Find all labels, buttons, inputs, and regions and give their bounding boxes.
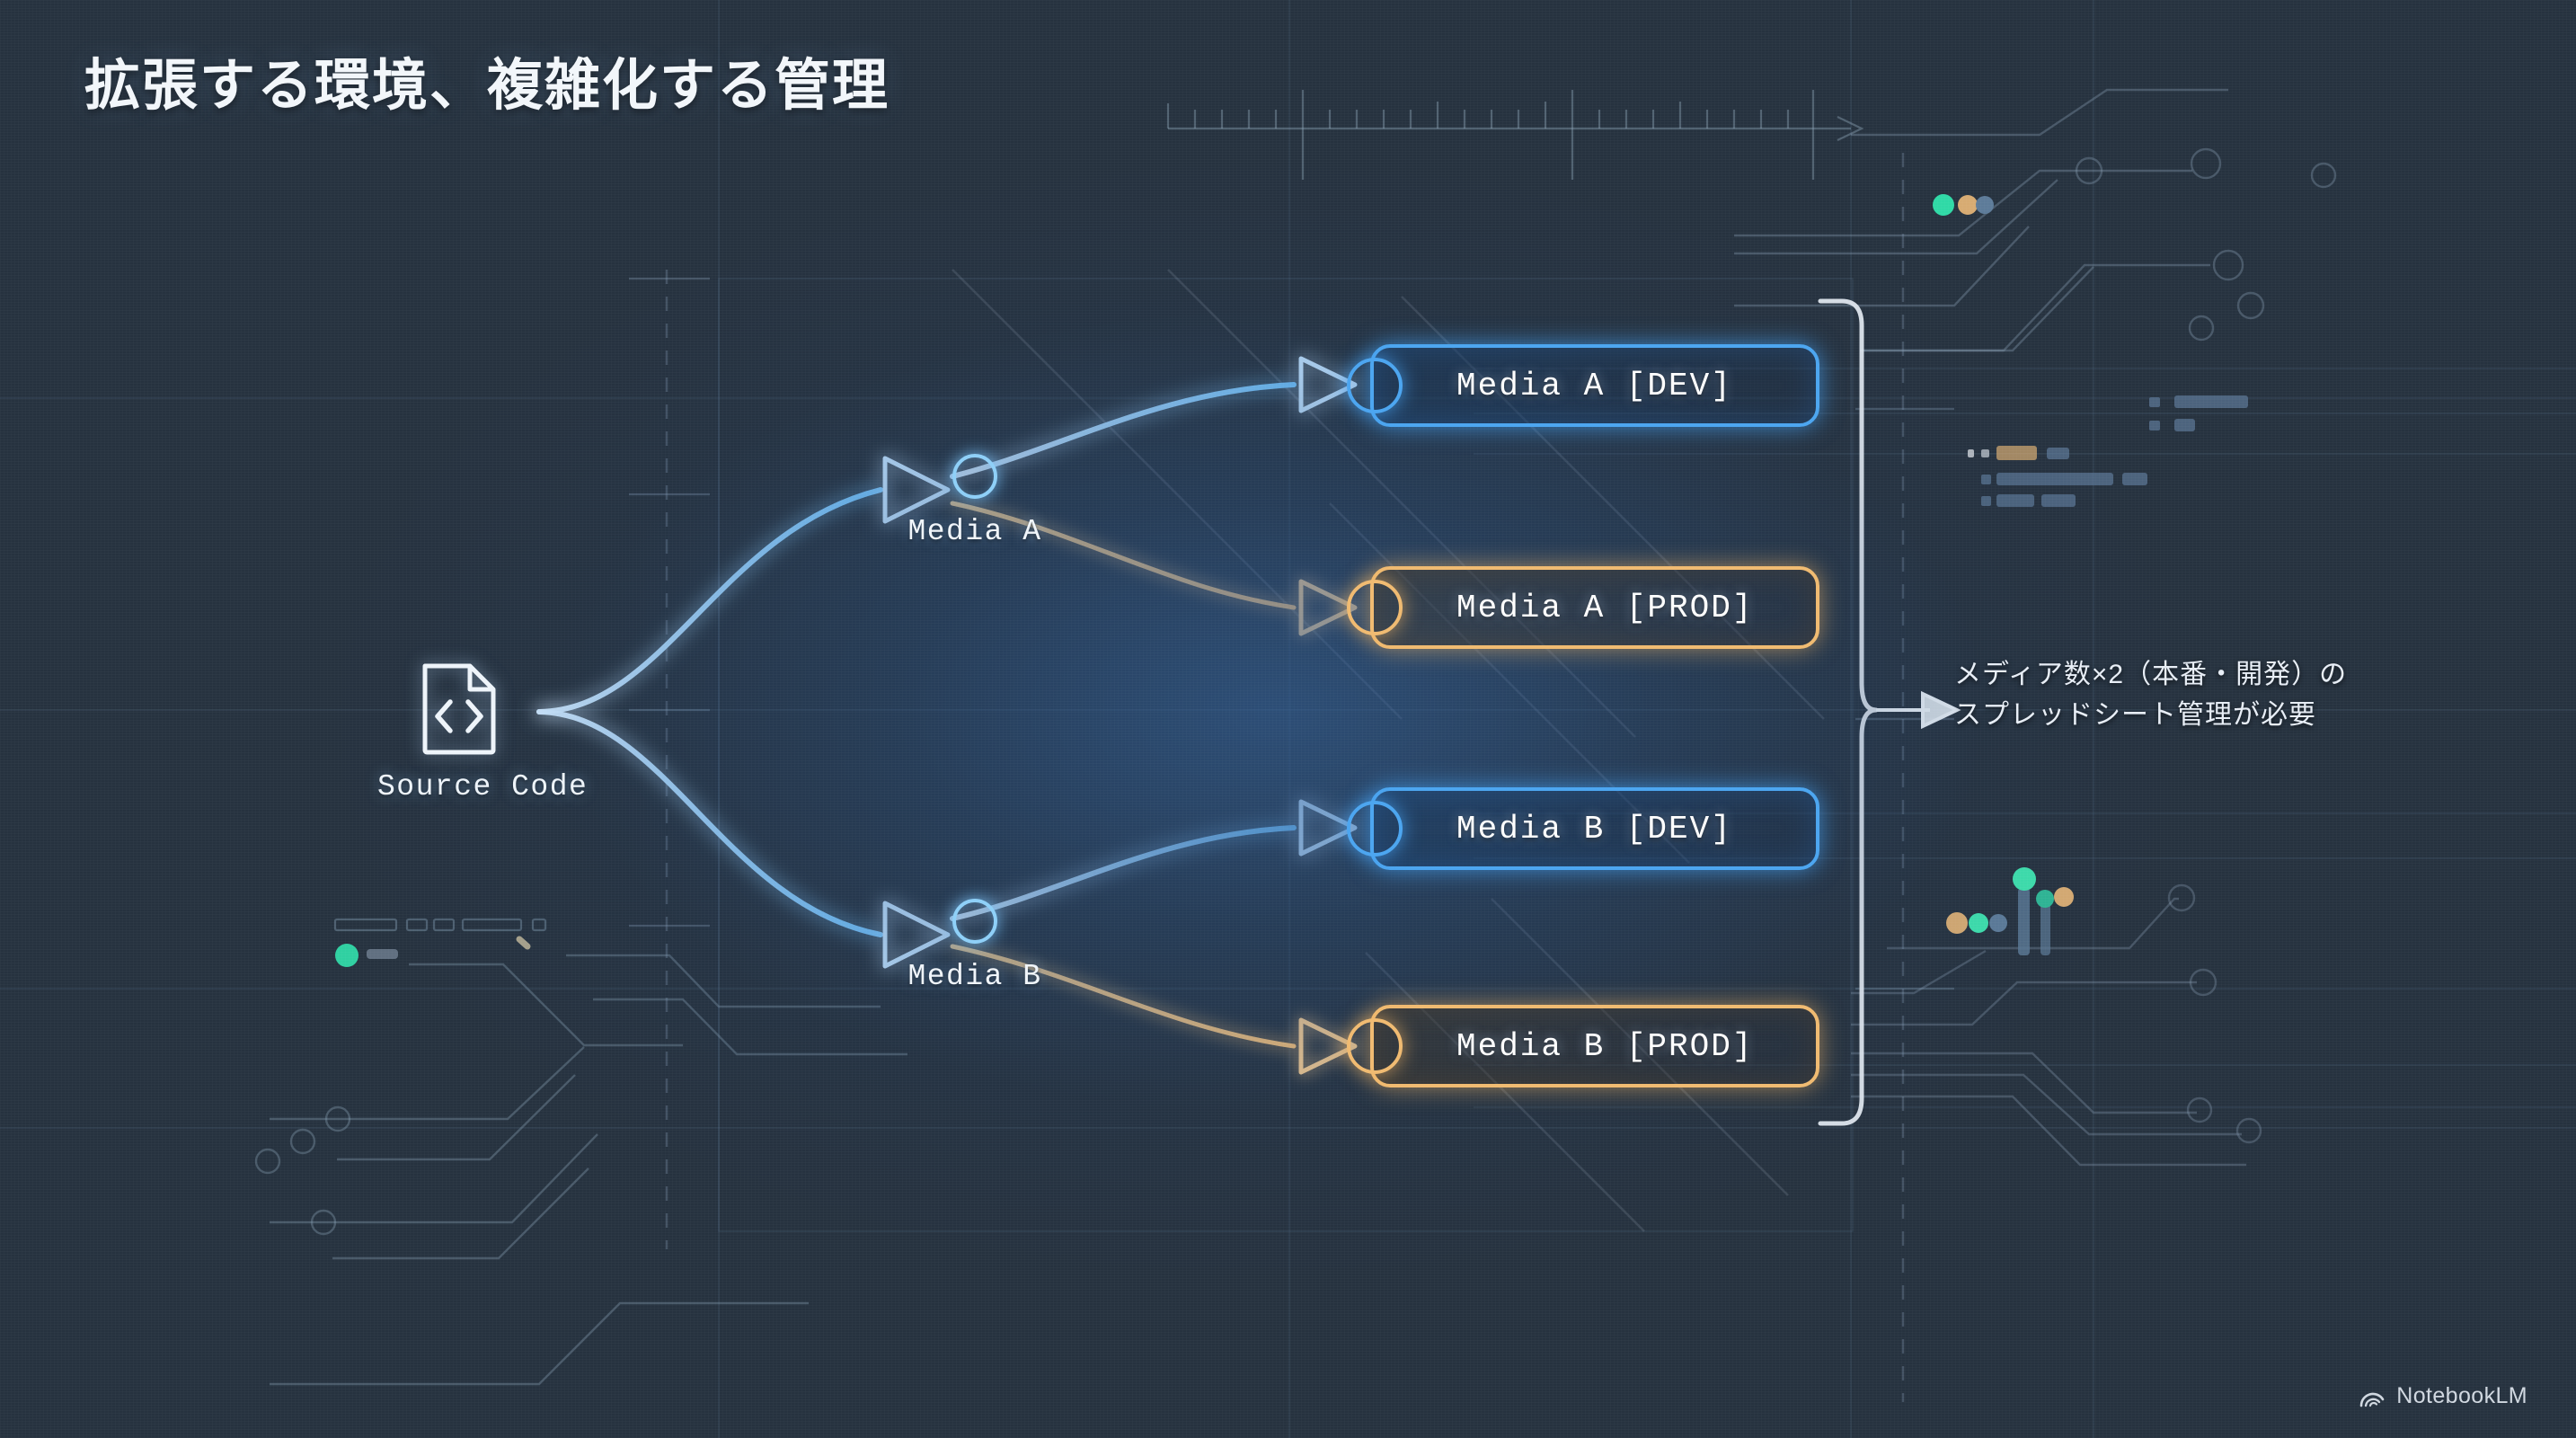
node-circle-icon <box>952 454 997 499</box>
notebooklm-watermark: NotebookLM <box>2359 1383 2527 1409</box>
annotation-callout: メディア数×2（本番・開発）の スプレッドシート管理が必要 <box>1954 654 2347 735</box>
grouping-arrow <box>1876 694 1957 726</box>
node-circle-icon <box>1347 801 1403 857</box>
annotation-line-2: スプレッドシート管理が必要 <box>1954 695 2347 735</box>
env-box-label: Media B [DEV] <box>1456 811 1732 848</box>
page-title: 拡張する環境、複雑化する管理 <box>84 40 890 120</box>
env-box-label: Media A [DEV] <box>1456 368 1732 404</box>
grouping-brace <box>1820 301 1876 1123</box>
status-dots-bottom-right <box>1946 867 2074 955</box>
status-dots-top-right <box>1933 194 1994 216</box>
slide-canvas: 拡張する環境、複雑化する管理 Source Code Media A Media… <box>0 0 2576 1438</box>
node-circle-icon <box>1347 358 1403 413</box>
circuit-traces-bottom-right <box>1851 885 2261 1165</box>
env-box-label: Media A [PROD] <box>1456 590 1753 626</box>
node-circle-icon <box>1347 1018 1403 1074</box>
branch-label-media-a: Media A <box>858 515 1092 548</box>
led-green-dot <box>335 944 359 967</box>
circuit-traces-bottom-left <box>256 955 907 1384</box>
env-box-label: Media B [PROD] <box>1456 1028 1753 1065</box>
flow-edge-source-to-media-a <box>539 490 881 712</box>
node-circle-icon <box>1347 580 1403 635</box>
flow-edge-source-to-media-b <box>539 712 881 935</box>
watermark-label: NotebookLM <box>2396 1383 2527 1409</box>
source-code-file-icon <box>416 661 500 758</box>
code-placeholder-bars-right <box>1968 395 2248 507</box>
branch-node-media-a[interactable]: Media A <box>858 454 1092 548</box>
circuit-chips-bottom-left <box>335 919 545 930</box>
branch-node-media-b[interactable]: Media B <box>858 899 1092 993</box>
node-circle-icon <box>952 899 997 944</box>
dashed-guides <box>667 153 1903 1402</box>
env-box-media-a-dev[interactable]: Media A [DEV] <box>1370 344 1819 427</box>
ruler-scale <box>1168 90 1862 180</box>
env-box-media-b-prod[interactable]: Media B [PROD] <box>1370 1005 1819 1087</box>
env-box-media-b-dev[interactable]: Media B [DEV] <box>1370 787 1819 870</box>
notebooklm-arc-icon <box>2359 1385 2386 1408</box>
annotation-line-1: メディア数×2（本番・開発）の <box>1954 654 2347 695</box>
source-code-node[interactable]: Source Code <box>377 661 539 803</box>
source-code-label: Source Code <box>377 770 539 803</box>
branch-label-media-b: Media B <box>858 960 1092 993</box>
env-box-media-a-prod[interactable]: Media A [PROD] <box>1370 566 1819 649</box>
